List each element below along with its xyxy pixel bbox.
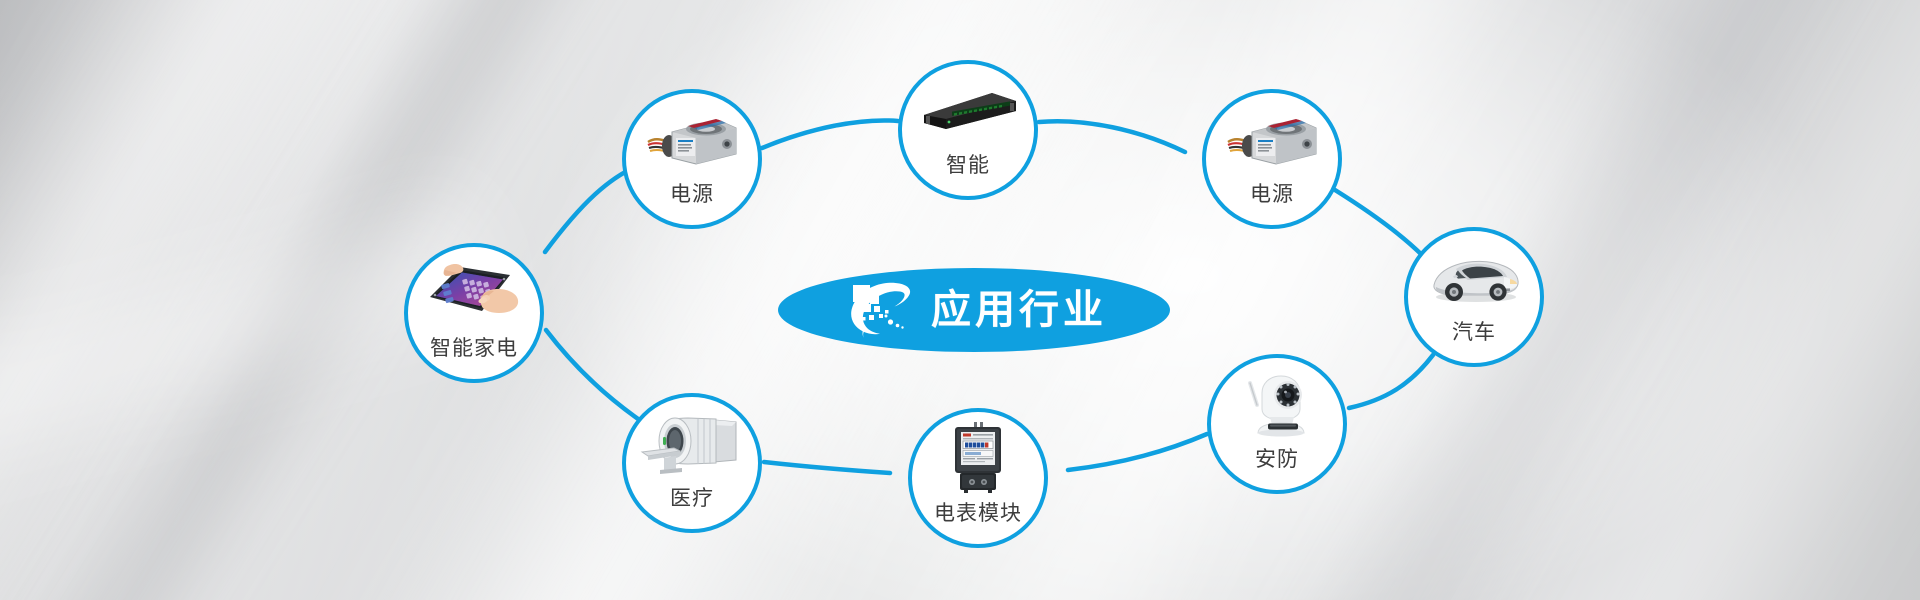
node-medical[interactable]: 医疗: [622, 393, 762, 533]
link-meter-medical: [764, 462, 890, 473]
node-smart-home[interactable]: 智能家电: [404, 243, 544, 383]
thumb: [1408, 231, 1540, 322]
atx-power-supply-icon: [644, 108, 740, 170]
link-security-meter: [1068, 434, 1207, 470]
thumb: [408, 247, 540, 338]
thumb: [1206, 93, 1338, 184]
thumb: [1211, 358, 1343, 449]
rack-server-icon: [916, 85, 1020, 135]
link-automotive-security: [1349, 355, 1433, 408]
node-label: 医疗: [670, 488, 714, 529]
thumb: [902, 64, 1034, 155]
thumb: [912, 412, 1044, 503]
node-label: 智能: [946, 155, 990, 196]
node-automotive[interactable]: 汽车: [1404, 227, 1544, 367]
atx-power-supply-icon: [1224, 108, 1320, 170]
orbit-swoosh-pixel-logo: [841, 279, 915, 341]
node-meter-module[interactable]: 电表模块: [908, 408, 1048, 548]
ct-mri-scanner-icon: [640, 412, 744, 474]
link-powerleft-smart: [762, 120, 898, 148]
ip-camera-icon: [1236, 371, 1318, 437]
node-smart[interactable]: 智能: [898, 60, 1038, 200]
node-security[interactable]: 安防: [1207, 354, 1347, 494]
link-smart-powerright: [1039, 121, 1185, 152]
node-label: 电表模块: [934, 503, 1022, 544]
node-label: 智能家电: [430, 338, 518, 379]
node-power-right[interactable]: 电源: [1202, 89, 1342, 229]
node-label: 电源: [1250, 184, 1294, 225]
tablet-touch-hand-icon: [424, 263, 524, 323]
banner-stage: 应用行业: [0, 0, 1920, 600]
node-power-left[interactable]: 电源: [622, 89, 762, 229]
center-badge: 应用行业: [778, 268, 1170, 352]
thumb: [626, 93, 758, 184]
node-label: 电源: [670, 184, 714, 225]
node-label: 汽车: [1452, 322, 1496, 363]
node-label: 安防: [1255, 449, 1299, 490]
center-label: 应用行业: [931, 290, 1107, 330]
electric-meter-icon: [947, 421, 1009, 495]
sports-car-icon: [1424, 249, 1524, 305]
thumb: [626, 397, 758, 488]
